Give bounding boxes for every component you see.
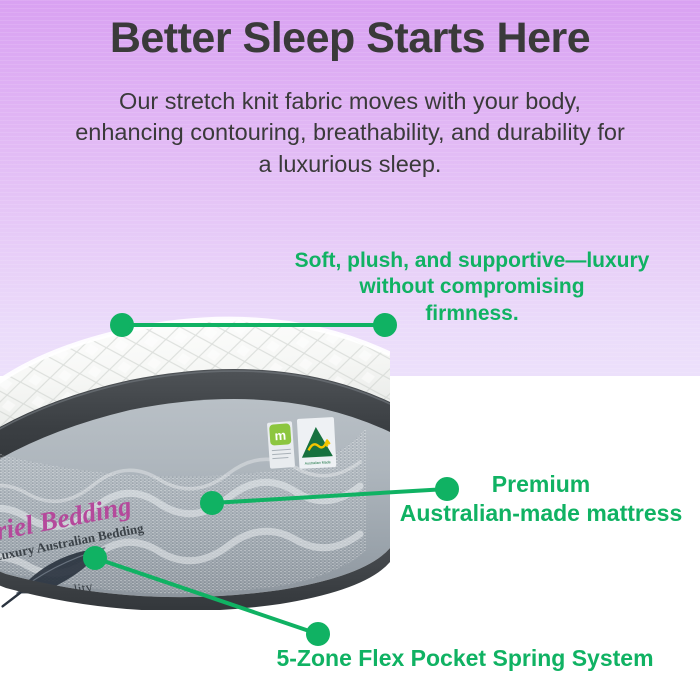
mattress-product-image: Ariel Bedding Luxury Australian Bedding … [0,310,390,610]
page-subtitle-line-2: enhancing contouring, breathability, and… [0,117,700,148]
brand-fabric-tag: m [267,421,295,469]
callout-origin-line-2: Australian-made mattress [382,499,700,528]
callout-origin-line-1: Premium [382,470,700,499]
callout-comfort: Soft, plush, and supportive—luxury witho… [262,248,682,327]
page-subtitle-line-1: Our stretch knit fabric moves with your … [0,86,700,117]
callout-origin: Premium Australian-made mattress [382,470,700,528]
connector-dot-springs-end [308,624,328,644]
page-title: Better Sleep Starts Here [0,16,700,61]
callout-comfort-line-1: Soft, plush, and supportive—luxury [262,248,682,274]
callout-springs-line-1: 5-Zone Flex Pocket Spring System [230,644,700,673]
page-subtitle: Our stretch knit fabric moves with your … [0,86,700,180]
australian-made-icon: Australian Made [297,417,337,469]
fabric-tag-letter: m [274,428,287,444]
callout-comfort-line-2: without compromising [262,274,682,300]
infographic-root: Better Sleep Starts Here Our stretch kni… [0,0,700,700]
callout-springs: 5-Zone Flex Pocket Spring System [230,644,700,673]
page-subtitle-line-3: a luxurious sleep. [0,149,700,180]
callout-comfort-line-3: firmness. [262,301,682,327]
